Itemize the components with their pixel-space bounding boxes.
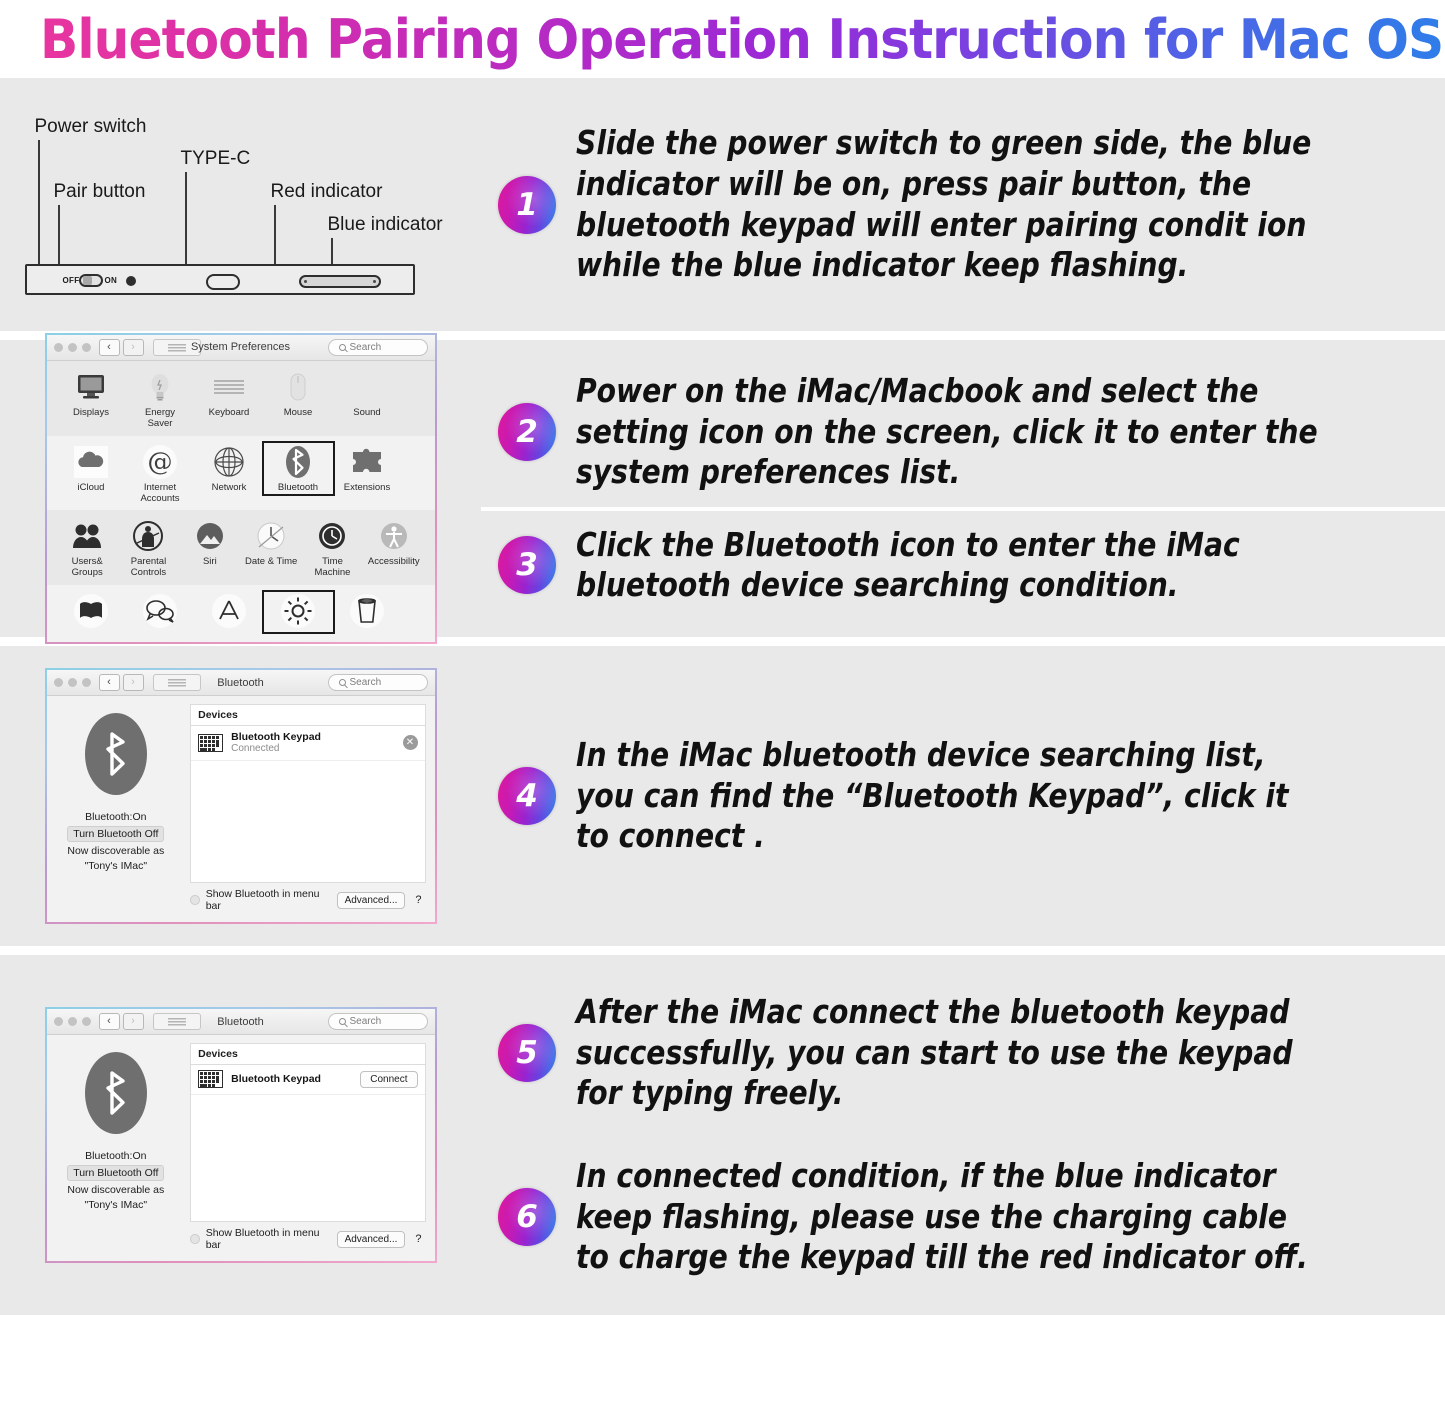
pref-label: Sound: [353, 408, 380, 419]
maximize-button[interactable]: [82, 343, 91, 352]
pref-item-users-groups[interactable]: Users& Groups: [57, 517, 118, 579]
label-blue-indicator: Blue indicator: [328, 214, 443, 236]
pair-button[interactable]: [126, 276, 136, 286]
pref-item-date-time[interactable]: Date & Time: [240, 517, 301, 568]
devices-list: Bluetooth Keypad Connected ✕: [190, 725, 425, 883]
leader-power-switch: [38, 140, 40, 270]
nav-buttons[interactable]: ‹ ›: [99, 1013, 144, 1030]
search-placeholder: Search: [350, 342, 382, 353]
pref-label: Parental Controls: [131, 557, 166, 579]
gear-icon: [281, 592, 315, 630]
step-2-row: 2 Power on the iMac/Macbook and select t…: [481, 357, 1445, 507]
pref-label: Users& Groups: [72, 557, 103, 579]
bluetooth-status-column: Bluetooth:On Turn Bluetooth Off Now disc…: [47, 1035, 186, 1261]
system-preferences-window: ‹ › System Preferences Search: [45, 333, 437, 645]
pref-label: Siri: [203, 557, 217, 568]
connect-button[interactable]: Connect: [360, 1071, 417, 1088]
users-icon: [70, 517, 104, 555]
back-button[interactable]: ‹: [99, 339, 120, 356]
bluetooth-icon: [85, 713, 147, 795]
step-text-3: Click the Bluetooth icon to enter the iM…: [576, 525, 1327, 606]
trash-icon: [350, 592, 384, 630]
step-badge-2: 2: [498, 403, 556, 461]
show-all-button[interactable]: [153, 1013, 201, 1030]
pref-label: Date & Time: [245, 557, 297, 568]
pref-label: Energy Saver: [145, 408, 175, 430]
step-badge-6: 6: [498, 1188, 556, 1246]
svg-text:@: @: [148, 447, 173, 476]
instruction-panel-3: ‹ › Bluetooth Search Bluetooth:On: [0, 646, 1445, 946]
help-button[interactable]: ?: [411, 894, 425, 906]
device-diagram: Power switch Pair button TYPE-C Red indi…: [21, 104, 461, 309]
devices-header: Devices: [190, 1043, 425, 1064]
pref-item-extensions[interactable]: Extensions: [333, 443, 402, 494]
leader-pair-button: [58, 205, 60, 270]
book-icon: [74, 592, 108, 630]
search-icon: [339, 1018, 346, 1025]
device-status: Connected: [231, 743, 394, 754]
instruction-panel-1: Power switch Pair button TYPE-C Red indi…: [0, 78, 1445, 331]
step-text-5: After the iMac connect the bluetooth key…: [576, 992, 1327, 1114]
chat-bubbles-icon: [143, 592, 177, 630]
discoverable-label: Now discoverable as: [67, 845, 164, 857]
search-placeholder: Search: [350, 677, 382, 688]
bluetooth-status: Bluetooth:On: [85, 1150, 146, 1162]
pref-label: Keyboard: [209, 408, 250, 419]
mouse-icon: [289, 368, 307, 406]
leader-type-c: [185, 172, 187, 270]
show-bluetooth-label: Show Bluetooth in menu bar: [206, 1227, 331, 1251]
grid-icon: [168, 678, 186, 687]
pref-item-internet-accounts[interactable]: @ Internet Accounts: [126, 443, 195, 505]
search-input[interactable]: Search: [328, 339, 428, 356]
device-name-group: Bluetooth Keypad Connected: [231, 731, 394, 754]
device-name: Bluetooth Keypad: [231, 1073, 352, 1085]
step-6-row: 6 In connected condition, if the blue in…: [481, 1142, 1445, 1292]
device-diagram-container: Power switch Pair button TYPE-C Red indi…: [0, 78, 481, 331]
disconnect-icon[interactable]: ✕: [403, 735, 418, 750]
label-power-switch: Power switch: [35, 116, 147, 138]
preferences-row: iCloud @ Internet Accounts Network: [47, 436, 435, 511]
step-1-row: 1 Slide the power switch to green side, …: [481, 109, 1445, 299]
bluetooth-status: Bluetooth:On: [85, 811, 146, 823]
pref-item-bluetooth[interactable]: Bluetooth: [264, 443, 333, 494]
close-button[interactable]: [54, 343, 63, 352]
device-name: Bluetooth Keypad: [231, 731, 394, 743]
step-badge-3: 3: [498, 536, 556, 594]
pref-item-icloud[interactable]: iCloud: [57, 443, 126, 494]
pref-item-accessibility[interactable]: Accessibility: [363, 517, 424, 568]
advanced-button[interactable]: Advanced...: [337, 1231, 406, 1248]
forward-button[interactable]: ›: [123, 674, 144, 691]
globe-icon: [213, 443, 245, 481]
step-4-container: 4 In the iMac bluetooth device searching…: [481, 646, 1445, 946]
grid-icon: [168, 343, 186, 352]
pref-item-keyboard[interactable]: Keyboard: [195, 368, 264, 419]
devices-column: Devices: [185, 1035, 434, 1261]
list-item[interactable]: Bluetooth Keypad Connected ✕: [191, 726, 424, 761]
keyboard-icon: [213, 368, 245, 406]
pref-item-trash[interactable]: [333, 592, 402, 632]
bluetooth-status-column: Bluetooth:On Turn Bluetooth Off Now disc…: [47, 696, 186, 922]
keypad-icon: [198, 734, 223, 752]
search-placeholder: Search: [350, 1016, 382, 1027]
pref-item-sound[interactable]: Sound: [333, 368, 402, 419]
pref-label: Internet Accounts: [140, 483, 179, 505]
show-all-button[interactable]: [153, 674, 201, 691]
window-titlebar: ‹ › System Preferences Search: [47, 335, 435, 361]
back-button[interactable]: ‹: [99, 1013, 120, 1030]
search-input[interactable]: Search: [328, 674, 428, 691]
turn-bluetooth-off-button[interactable]: Turn Bluetooth Off: [67, 826, 164, 842]
step-text-4: In the iMac bluetooth device searching l…: [576, 735, 1327, 857]
help-button[interactable]: ?: [411, 1233, 425, 1245]
switch-on-label: ON: [105, 276, 118, 285]
puzzle-icon: [350, 443, 384, 481]
window-titlebar: ‹ › Bluetooth Search: [47, 1009, 435, 1035]
pref-label: Time Machine: [315, 557, 351, 579]
pref-item-time-machine[interactable]: Time Machine: [302, 517, 363, 579]
indicator-strip: [299, 275, 381, 288]
bluetooth-connected-window-container: ‹ › Bluetooth Search Bluetooth:On: [0, 646, 481, 946]
cloud-icon: [73, 443, 109, 481]
bluetooth-pane: Bluetooth:On Turn Bluetooth Off Now disc…: [47, 1035, 435, 1261]
page-header: Bluetooth Pairing Operation Instruction …: [0, 0, 1445, 78]
system-preferences-container: ‹ › System Preferences Search: [0, 340, 481, 637]
type-c-port: [206, 274, 240, 290]
devices-column: Devices: [185, 696, 434, 922]
at-sign-icon: @: [143, 443, 177, 481]
bluetooth-window-connected: ‹ › Bluetooth Search Bluetooth:On: [45, 668, 437, 924]
bluetooth-footer: Show Bluetooth in menu bar Advanced... ?: [190, 883, 425, 914]
pref-label: Extensions: [344, 483, 390, 494]
devices-header: Devices: [190, 704, 425, 725]
label-type-c: TYPE-C: [181, 148, 251, 170]
pref-item-settings-gear[interactable]: [264, 592, 333, 632]
clock-icon: [255, 517, 287, 555]
steps-2-3-container: 2 Power on the iMac/Macbook and select t…: [481, 340, 1445, 637]
close-button[interactable]: [54, 678, 63, 687]
step-divider: [481, 1128, 1445, 1142]
search-icon: [339, 679, 346, 686]
minimize-button[interactable]: [68, 1017, 77, 1026]
grid-icon: [168, 1017, 186, 1026]
time-machine-icon: [318, 517, 346, 555]
show-all-button[interactable]: [153, 339, 201, 356]
app-store-icon: [212, 592, 246, 630]
preferences-row: Users& Groups Parental Controls Siri: [47, 510, 435, 585]
computer-name: "Tony's IMac": [85, 860, 148, 872]
computer-name: "Tony's IMac": [85, 1199, 148, 1211]
pref-label: Mouse: [284, 408, 313, 419]
instruction-panel-2: ‹ › System Preferences Search: [0, 340, 1445, 637]
devices-empty-area: [191, 761, 424, 882]
bluetooth-connect-window-container: ‹ › Bluetooth Search Bluetooth:On: [0, 955, 481, 1315]
bluetooth-icon: [285, 443, 311, 481]
devices-empty-area: [191, 1095, 424, 1221]
pref-item-mouse[interactable]: Mouse: [264, 368, 333, 419]
pref-label: Network: [212, 483, 247, 494]
pref-item-network[interactable]: Network: [195, 443, 264, 494]
devices-list: Bluetooth Keypad Connect: [190, 1064, 425, 1222]
nav-buttons[interactable]: ‹ ›: [99, 674, 144, 691]
pref-item-displays[interactable]: Displays: [57, 368, 126, 419]
window-titlebar: ‹ › Bluetooth Search: [47, 670, 435, 696]
step-text-6: In connected condition, if the blue indi…: [576, 1156, 1327, 1278]
preferences-row: [47, 585, 435, 642]
step-1-container: 1 Slide the power switch to green side, …: [481, 78, 1445, 331]
pref-label: Accessibility: [368, 557, 420, 568]
siri-icon: [196, 517, 224, 555]
bluetooth-icon: [85, 1052, 147, 1134]
pref-item-ibooks[interactable]: [57, 592, 126, 632]
step-badge-1: 1: [498, 176, 556, 234]
search-input[interactable]: Search: [328, 1013, 428, 1030]
minimize-button[interactable]: [68, 343, 77, 352]
forward-button[interactable]: ›: [123, 1013, 144, 1030]
device-name-group: Bluetooth Keypad: [231, 1073, 352, 1085]
accessibility-icon: [380, 517, 408, 555]
label-red-indicator: Red indicator: [271, 181, 383, 203]
close-button[interactable]: [54, 1017, 63, 1026]
label-pair-button: Pair button: [54, 181, 146, 203]
show-bluetooth-checkbox[interactable]: [190, 1234, 200, 1244]
parental-controls-icon: [133, 517, 163, 555]
traffic-lights[interactable]: [54, 1017, 91, 1026]
step-text-2: Power on the iMac/Macbook and select the…: [576, 371, 1327, 493]
traffic-lights[interactable]: [54, 678, 91, 687]
maximize-button[interactable]: [82, 1017, 91, 1026]
bluetooth-window-connect: ‹ › Bluetooth Search Bluetooth:On: [45, 1007, 437, 1263]
step-5-row: 5 After the iMac connect the bluetooth k…: [481, 978, 1445, 1128]
list-item[interactable]: Bluetooth Keypad Connect: [191, 1065, 424, 1095]
turn-bluetooth-off-button[interactable]: Turn Bluetooth Off: [67, 1165, 164, 1181]
pref-item-messages[interactable]: [126, 592, 195, 632]
lightbulb-icon: [148, 368, 172, 406]
bluetooth-pane: Bluetooth:On Turn Bluetooth Off Now disc…: [47, 696, 435, 922]
page-title: Bluetooth Pairing Operation Instruction …: [40, 8, 1443, 71]
step-text-1: Slide the power switch to green side, th…: [576, 123, 1327, 285]
show-bluetooth-label: Show Bluetooth in menu bar: [206, 888, 331, 912]
power-switch-knob[interactable]: [83, 276, 92, 285]
keypad-icon: [198, 1070, 223, 1088]
minimize-button[interactable]: [68, 678, 77, 687]
preferences-grid: Displays Energy Saver Keyboard: [47, 361, 435, 643]
display-icon: [76, 368, 106, 406]
forward-button[interactable]: ›: [123, 339, 144, 356]
back-button[interactable]: ‹: [99, 674, 120, 691]
pref-label: Displays: [73, 408, 109, 419]
bluetooth-footer: Show Bluetooth in menu bar Advanced... ?: [190, 1222, 425, 1253]
pref-item-parental-controls[interactable]: Parental Controls: [118, 517, 179, 579]
nav-buttons[interactable]: ‹ ›: [99, 339, 144, 356]
step-4-row: 4 In the iMac bluetooth device searching…: [481, 721, 1445, 871]
switch-off-label: OFF: [63, 276, 80, 285]
step-badge-5: 5: [498, 1024, 556, 1082]
pref-item-siri[interactable]: Siri: [179, 517, 240, 568]
pref-label: Bluetooth: [278, 483, 318, 494]
instruction-panel-4: ‹ › Bluetooth Search Bluetooth:On: [0, 955, 1445, 1315]
preferences-row: Displays Energy Saver Keyboard: [47, 361, 435, 436]
pref-label: iCloud: [78, 483, 105, 494]
show-bluetooth-checkbox[interactable]: [190, 895, 200, 905]
step-3-row: 3 Click the Bluetooth icon to enter the …: [481, 511, 1445, 620]
pref-item-app-store[interactable]: [195, 592, 264, 632]
advanced-button[interactable]: Advanced...: [337, 892, 406, 909]
maximize-button[interactable]: [82, 678, 91, 687]
steps-5-6-container: 5 After the iMac connect the bluetooth k…: [481, 955, 1445, 1315]
search-icon: [339, 344, 346, 351]
leader-red-indicator: [274, 205, 276, 270]
discoverable-label: Now discoverable as: [67, 1184, 164, 1196]
step-badge-4: 4: [498, 767, 556, 825]
pref-item-energy-saver[interactable]: Energy Saver: [126, 368, 195, 430]
keypad-device-body: OFF ON: [25, 264, 415, 295]
traffic-lights[interactable]: [54, 343, 91, 352]
